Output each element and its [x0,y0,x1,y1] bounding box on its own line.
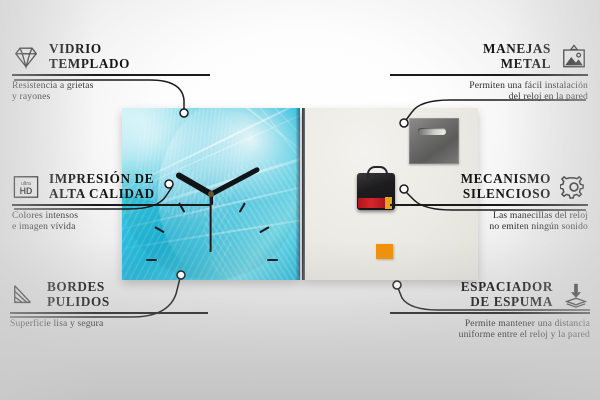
hour-tick [146,259,212,261]
callout-rule [390,74,588,76]
callout-title: ESPACIADOR [461,280,553,295]
callout-subtitle: Las manecillas del reloj [390,210,588,222]
callout-subtitle-2: no emiten ningún sonido [390,221,588,233]
callout-subtitle: Permite mantener una distancia [390,318,590,330]
ultra-hd-icon: ultra HD [12,174,40,200]
callout-title-2: PULIDOS [47,295,110,310]
callout-subtitle: Superficie lisa y segura [10,318,208,330]
callout-title: MANEJAS [483,42,551,57]
movement-hook [367,166,388,178]
callout-rule [10,312,208,314]
callout-rule [12,204,210,206]
callout-subtitle: Permiten una fácil instalación [390,80,588,92]
callout-manejas-metal: MANEJAS METAL Permiten una fácil instala… [390,42,588,103]
gear-icon [560,174,588,200]
callout-subtitle-2: e imagen vívida [12,221,210,233]
callout-espaciador-espuma: ESPACIADOR DE ESPUMA Permite mantener un… [390,280,590,341]
infographic-canvas: VIDRIO TEMPLADO Resistencia a grietas y … [0,0,600,400]
clock-second-hand [210,194,212,252]
panel-edge [302,108,305,280]
svg-text:HD: HD [20,185,33,195]
hanger-plate [409,118,459,164]
polished-edge-icon [10,282,38,308]
quartz-movement [357,173,395,210]
callout-title-2: METAL [483,57,551,72]
callout-subtitle-2: uniforme entre el reloj y la pared [390,329,590,341]
callout-title-2: SILENCIOSO [461,187,551,202]
diamond-icon [12,44,40,70]
callout-title-2: DE ESPUMA [461,295,553,310]
callout-subtitle-2: y rayones [12,91,210,103]
callout-rule [12,74,210,76]
foam-spacer [376,244,393,259]
hanging-picture-frame-icon [560,44,588,70]
callout-title: VIDRIO [49,42,130,57]
callout-subtitle-2: del reloj en la pared [390,91,588,103]
down-arrow-stack-icon [562,282,590,308]
callout-bordes-pulidos: BORDES PULIDOS Superficie lisa y segura [10,280,208,329]
hanger-slot [418,128,446,135]
callout-rule [390,312,590,314]
callout-title: BORDES [47,280,110,295]
callout-subtitle: Colores intensos [12,210,210,222]
callout-mecanismo-silencioso: MECANISMO SILENCIOSO Las manecillas del … [390,172,588,233]
callout-rule [390,204,588,206]
callout-title: IMPRESIÓN DE [49,172,155,187]
callout-title-2: TEMPLADO [49,57,130,72]
callout-title: MECANISMO [461,172,551,187]
hour-tick [212,259,278,261]
callout-subtitle: Resistencia a grietas [12,80,210,92]
callout-vidrio-templado: VIDRIO TEMPLADO Resistencia a grietas y … [12,42,210,103]
callout-impresion-alta-calidad: ultra HD IMPRESIÓN DE ALTA CALIDAD Color… [12,172,210,233]
callout-title-2: ALTA CALIDAD [49,187,155,202]
